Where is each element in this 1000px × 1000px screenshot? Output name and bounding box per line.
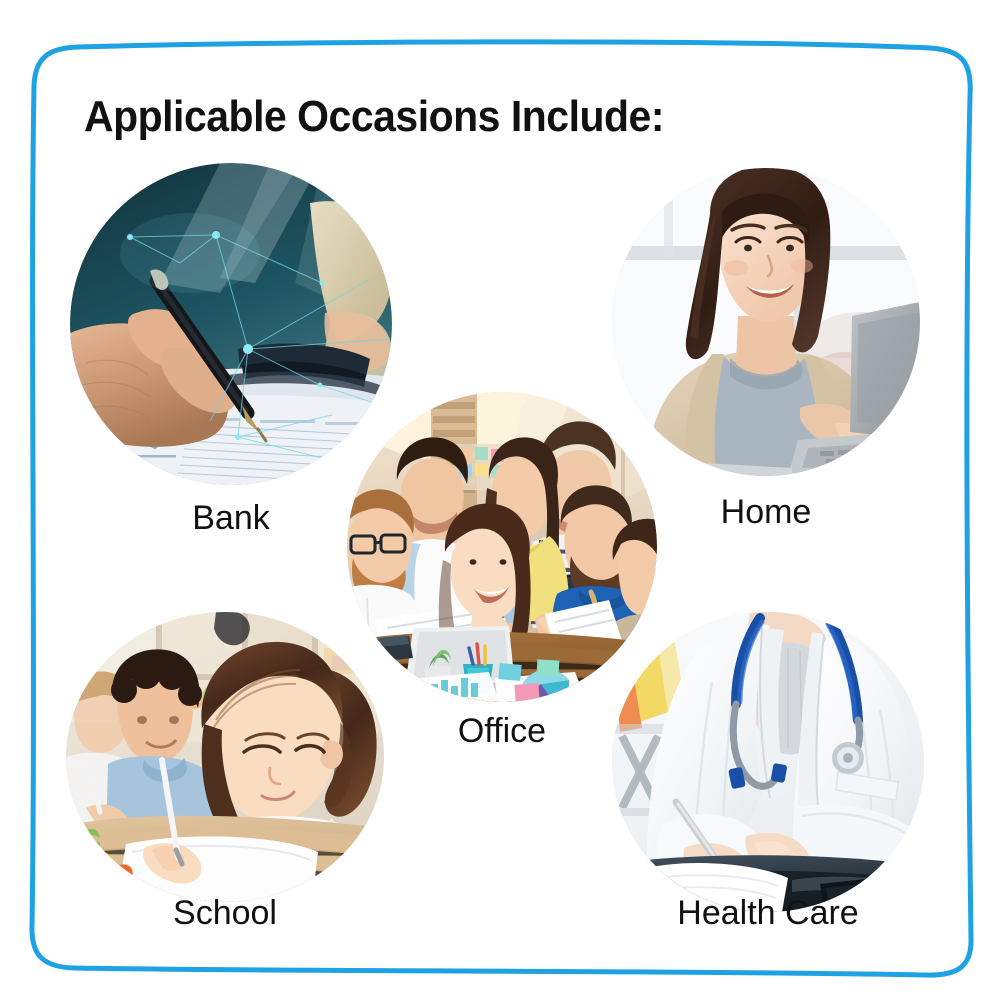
occasion-label-home: Home xyxy=(612,493,920,532)
bank-photo xyxy=(70,163,392,485)
school-photo xyxy=(66,612,384,902)
page-title: Applicable Occasions Include: xyxy=(84,92,664,142)
occasion-label-office: Office xyxy=(347,712,657,751)
poster-canvas: Applicable Occasions Include: xyxy=(0,0,1000,1000)
occasion-label-bank: Bank xyxy=(70,499,392,538)
office-photo xyxy=(347,392,657,702)
occasion-label-school: School xyxy=(66,894,384,933)
home-photo xyxy=(612,168,920,476)
occasion-label-health-care: Health Care xyxy=(602,894,934,933)
health-care-photo xyxy=(612,612,924,912)
